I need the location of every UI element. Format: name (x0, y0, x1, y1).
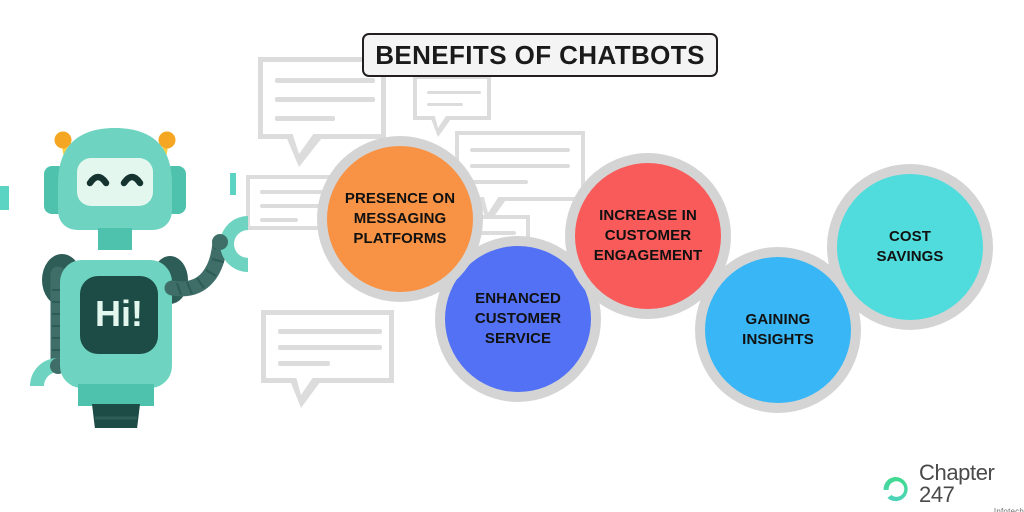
title-banner: BENEFITS OF CHATBOTS (362, 33, 718, 77)
logo-subtitle: Infotech (994, 507, 1024, 512)
benefit-label: COSTSAVINGS (876, 227, 943, 267)
benefit-circle-increase-in-customer-engagement[interactable]: INCREASE INCUSTOMERENGAGEMENT (565, 153, 731, 319)
benefit-circle-fill: COSTSAVINGS (837, 174, 983, 320)
accent-chip (0, 186, 9, 210)
infographic-canvas: Hi! (0, 0, 1024, 512)
benefit-label: INCREASE INCUSTOMERENGAGEMENT (594, 206, 703, 265)
robot-neck (98, 228, 132, 250)
benefit-circle-fill: PRESENCE ONMESSAGINGPLATFORMS (327, 146, 473, 292)
speech-bubble-icon (413, 75, 491, 120)
robot-base (92, 404, 140, 428)
chatbot-robot-mascot: Hi! (22, 118, 282, 428)
robot-waist (78, 384, 154, 406)
benefit-label: GAININGINSIGHTS (742, 310, 814, 350)
robot-screen-text: Hi! (95, 293, 143, 334)
benefit-label: ENHANCEDCUSTOMERSERVICE (475, 289, 561, 348)
benefit-label: PRESENCE ONMESSAGINGPLATFORMS (345, 189, 455, 248)
refresh-swoosh-icon (878, 472, 912, 506)
benefit-circle-fill: GAININGINSIGHTS (705, 257, 851, 403)
benefit-circle-cost-savings[interactable]: COSTSAVINGS (827, 164, 993, 330)
page-title: BENEFITS OF CHATBOTS (375, 40, 705, 71)
benefit-circle-presence-on-messaging-platforms[interactable]: PRESENCE ONMESSAGINGPLATFORMS (317, 136, 483, 302)
benefit-circle-fill: INCREASE INCUSTOMERENGAGEMENT (575, 163, 721, 309)
company-logo[interactable]: Chapter 247 Infotech (878, 462, 1024, 512)
logo-name: Chapter 247 (919, 462, 1024, 506)
logo-wordmark: Chapter 247 Infotech (919, 462, 1024, 512)
